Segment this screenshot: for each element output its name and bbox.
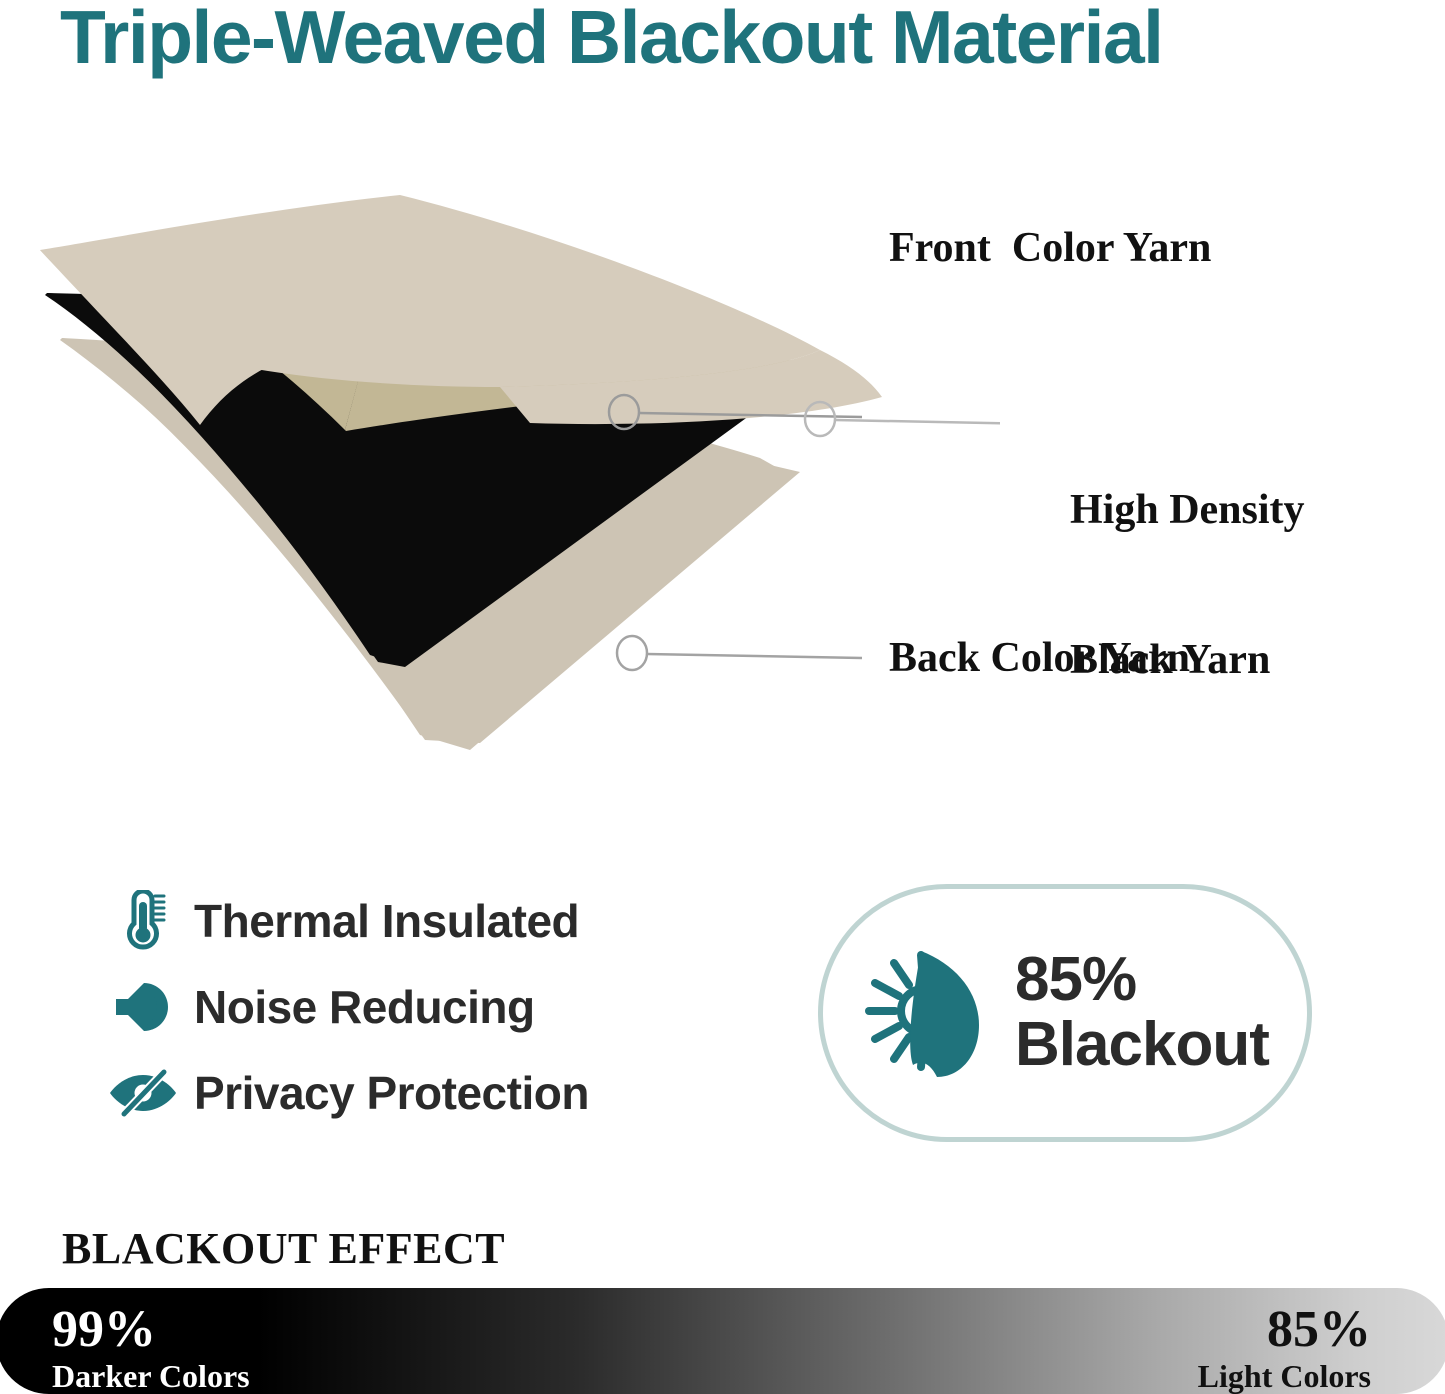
gradient-bar-left-stat: 99% Darker Colors: [52, 1302, 250, 1394]
gradient-bar-right-percent: 85%: [1198, 1302, 1371, 1358]
page-title: Triple-Weaved Blackout Material: [60, 0, 1420, 80]
gradient-bar-left-label: Darker Colors: [52, 1358, 250, 1394]
feature-label: Noise Reducing: [194, 981, 535, 1033]
gradient-bar-right-stat: 85% Light Colors: [1198, 1302, 1371, 1394]
fabric-layers-diagram: [0, 175, 1000, 775]
blackout-effect-gradient-bar: 99% Darker Colors 85% Light Colors: [0, 1288, 1445, 1394]
blackout-effect-heading: BLACKOUT EFFECT: [62, 1224, 505, 1274]
callout-back-color-yarn: Back Color Yarn: [889, 632, 1190, 684]
callout-front-color-yarn: Front Color Yarn: [889, 222, 1211, 274]
back-color-yarn-leader: [617, 636, 862, 670]
gradient-bar-left-percent: 99%: [52, 1302, 250, 1358]
thermometer-icon: [100, 890, 186, 952]
feature-thermal-insulated: Thermal Insulated: [100, 878, 760, 964]
gradient-bar-right-label: Light Colors: [1198, 1358, 1371, 1394]
eye-slash-icon: [100, 1068, 186, 1118]
badge-percent: 85%: [1015, 948, 1269, 1012]
badge-word: Blackout: [1015, 1012, 1269, 1078]
blackout-percentage-badge: 85% Blackout: [818, 884, 1312, 1142]
callout-line-1: High Density: [1070, 485, 1305, 535]
sun-blackout-icon: [861, 939, 989, 1087]
speaker-icon: [100, 980, 186, 1034]
badge-text: 85% Blackout: [1015, 948, 1269, 1078]
feature-noise-reducing: Noise Reducing: [100, 964, 760, 1050]
feature-label: Thermal Insulated: [194, 895, 579, 947]
feature-privacy-protection: Privacy Protection: [100, 1050, 760, 1136]
feature-list: Thermal Insulated Noise Reducing: [100, 878, 760, 1136]
feature-label: Privacy Protection: [194, 1067, 589, 1119]
